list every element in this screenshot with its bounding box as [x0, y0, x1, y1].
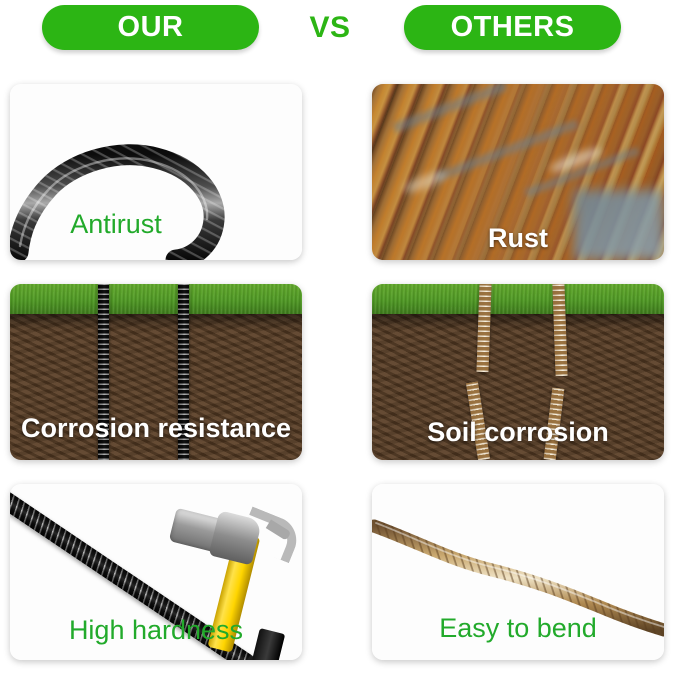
others-pill-label: OTHERS	[451, 13, 575, 42]
others-pill: OTHERS	[404, 5, 621, 50]
card-others-soil-corrosion: Soil corrosion	[372, 284, 664, 460]
card-others-rust: Rust	[372, 84, 664, 260]
hammer-head	[167, 494, 281, 573]
our-pill: OUR	[42, 5, 259, 50]
scene-antirust: Antirust	[10, 84, 302, 260]
comparison-infographic: OUR VS OTHERS	[0, 0, 679, 673]
card-our-antirust: Antirust	[10, 84, 302, 260]
grass-layer	[372, 284, 664, 314]
grass-layer	[10, 284, 302, 314]
scene-easy-to-bend: Easy to bend	[372, 484, 664, 660]
our-pill-label: OUR	[118, 13, 184, 42]
caption-corrosion-resistance: Corrosion resistance	[10, 415, 302, 442]
vs-label: VS	[300, 6, 360, 50]
caption-rust: Rust	[372, 225, 664, 252]
scene-high-hardness: High hardness	[10, 484, 302, 660]
caption-antirust: Antirust	[10, 211, 262, 238]
scene-rust: Rust	[372, 84, 664, 260]
scene-soil-corrosion: Soil corrosion	[372, 284, 664, 460]
card-our-high-hardness: High hardness	[10, 484, 302, 660]
card-our-corrosion-resistance: Corrosion resistance	[10, 284, 302, 460]
header: OUR VS OTHERS	[0, 0, 679, 62]
card-others-easy-to-bend: Easy to bend	[372, 484, 664, 660]
caption-high-hardness: High hardness	[10, 617, 302, 644]
scene-corrosion-resistance: Corrosion resistance	[10, 284, 302, 460]
caption-easy-to-bend: Easy to bend	[372, 615, 664, 642]
caption-soil-corrosion: Soil corrosion	[372, 419, 664, 446]
